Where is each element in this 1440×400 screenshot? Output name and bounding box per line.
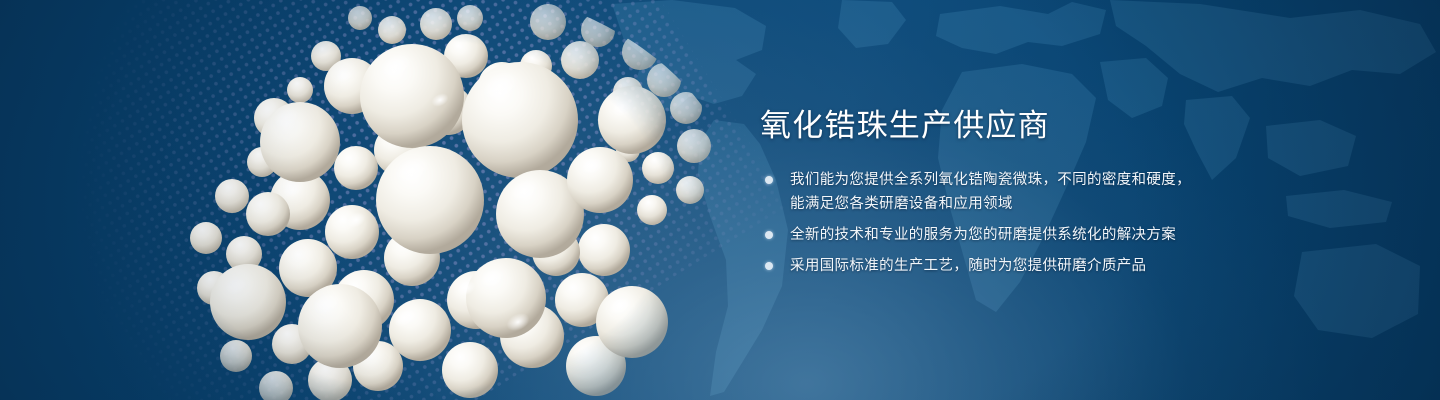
feature-list-item: 我们能为您提供全系列氧化锆陶瓷微珠，不同的密度和硬度， 能满足您各类研磨设备和应… [760, 168, 1230, 216]
feature-list-item: 采用国际标准的生产工艺，随时为您提供研磨介质产品 [760, 254, 1230, 278]
banner-copy: 氧化锆珠生产供应商 我们能为您提供全系列氧化锆陶瓷微珠，不同的密度和硬度， 能满… [760, 106, 1230, 278]
feature-text-line: 我们能为您提供全系列氧化锆陶瓷微珠，不同的密度和硬度， [790, 168, 1230, 192]
banner-headline: 氧化锆珠生产供应商 [760, 106, 1230, 146]
bullet-dot-icon [765, 231, 773, 239]
hero-banner: 氧化锆珠生产供应商 我们能为您提供全系列氧化锆陶瓷微珠，不同的密度和硬度， 能满… [0, 0, 1440, 400]
feature-text-line: 能满足您各类研磨设备和应用领域 [790, 192, 1230, 216]
bullet-dot-icon [765, 176, 773, 184]
zirconia-beads-image [0, 0, 780, 400]
bullet-dot-icon [765, 262, 773, 270]
banner-feature-list: 我们能为您提供全系列氧化锆陶瓷微珠，不同的密度和硬度， 能满足您各类研磨设备和应… [760, 168, 1230, 278]
feature-list-item: 全新的技术和专业的服务为您的研磨提供系统化的解决方案 [760, 223, 1230, 247]
feature-text-line: 全新的技术和专业的服务为您的研磨提供系统化的解决方案 [790, 223, 1230, 247]
feature-text-line: 采用国际标准的生产工艺，随时为您提供研磨介质产品 [790, 254, 1230, 278]
